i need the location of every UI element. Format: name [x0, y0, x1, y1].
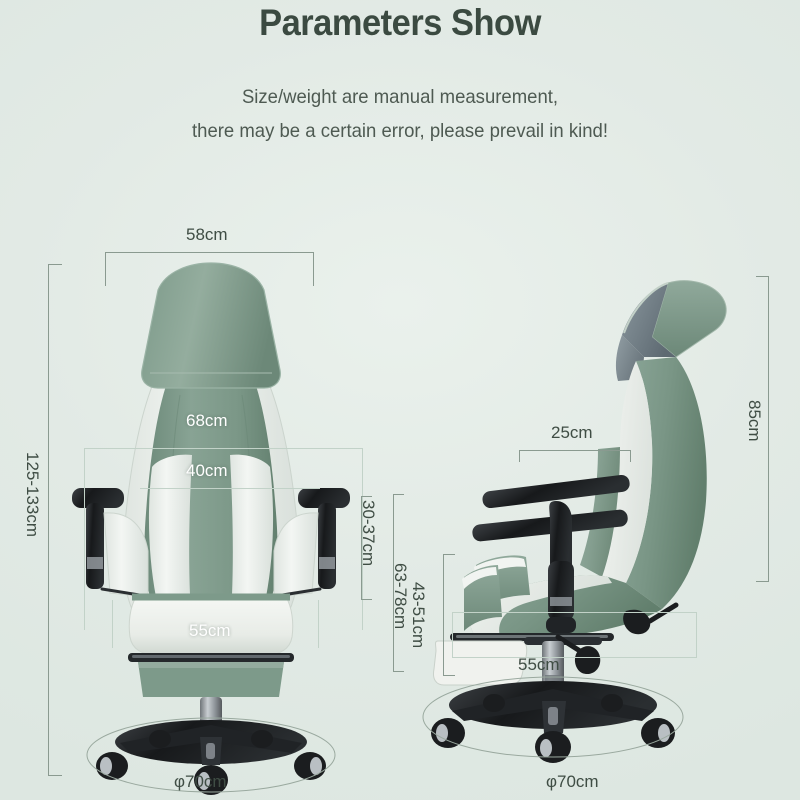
dimension-guide-seat-depth-box	[452, 612, 696, 613]
dimension-label-base-diameter-front: φ70cm	[174, 772, 227, 792]
dimension-label-armrest-depth: 25cm	[551, 423, 593, 443]
dimension-tick-backrest-total-height-bottom	[756, 581, 769, 582]
dimension-tick-overall-width-right	[313, 252, 314, 286]
subtitle-line-2: there may be a certain error, please pre…	[20, 120, 780, 143]
dimension-label-seat-to-top: 63-78cm	[390, 563, 410, 629]
dimension-tick-seat-height-bottom	[443, 675, 455, 676]
dimension-line-armrest-depth	[519, 450, 631, 451]
dimension-label-seat-width: 55cm	[189, 621, 231, 641]
dimension-label-base-diameter-side: φ70cm	[546, 772, 599, 792]
dimension-line-overall-height	[48, 264, 49, 776]
dimension-tick-armrest-depth-left	[519, 450, 520, 462]
dimension-label-backrest-height: 68cm	[186, 411, 228, 431]
dimension-label-seat-depth: 55cm	[518, 655, 560, 675]
dimension-guide-backrest-width-top	[84, 448, 362, 449]
dimension-label-backrest-total-height: 85cm	[744, 400, 764, 442]
dimension-tick-overall-height-bottom	[48, 775, 62, 776]
dimension-label-backrest-width: 40cm	[186, 461, 228, 481]
dimension-label-overall-width: 58cm	[186, 225, 228, 245]
dimension-tick-backrest-total-height-top	[756, 276, 769, 277]
dimension-line-backrest-total-height	[768, 276, 769, 582]
dimension-tick-overall-height-top	[48, 264, 62, 265]
subtitle-line-1: Size/weight are manual measurement,	[20, 86, 780, 109]
dimension-label-armrest-height: 30-37cm	[358, 500, 378, 566]
front-view-chair-illustration	[40, 245, 380, 775]
dimension-tick-armrest-height-bottom	[361, 599, 372, 600]
dimension-guide-seat-depth-bottom	[452, 657, 696, 658]
dimension-guide-backrest-width-mid	[140, 488, 320, 489]
dimension-tick-overall-width-left	[105, 252, 106, 286]
dimension-guide-backrest-width-left	[84, 448, 85, 630]
dimension-tick-seat-to-top-top	[393, 494, 404, 495]
side-view-chair-illustration	[430, 265, 770, 775]
dimension-tick-seat-to-top-bottom	[393, 671, 404, 672]
dimension-label-seat-height: 43-51cm	[408, 582, 428, 648]
dimension-tick-armrest-height-top	[361, 496, 372, 497]
dimension-guide-seat-depth-left	[452, 612, 453, 658]
parameters-diagram: Parameters Show Size/weight are manual m…	[0, 0, 800, 800]
dimension-line-seat-height	[443, 554, 444, 676]
dimension-line-overall-width	[105, 252, 314, 253]
dimension-tick-seat-height-top	[443, 554, 455, 555]
dimension-guide-seat-depth-right	[696, 612, 697, 658]
dimension-tick-armrest-depth-right	[630, 450, 631, 462]
dimension-guide-seat-width-right	[318, 600, 319, 648]
dimension-label-overall-height: 125-133cm	[22, 452, 42, 537]
page-title: Parameters Show	[28, 2, 772, 44]
dimension-guide-seat-width-left	[112, 600, 113, 648]
